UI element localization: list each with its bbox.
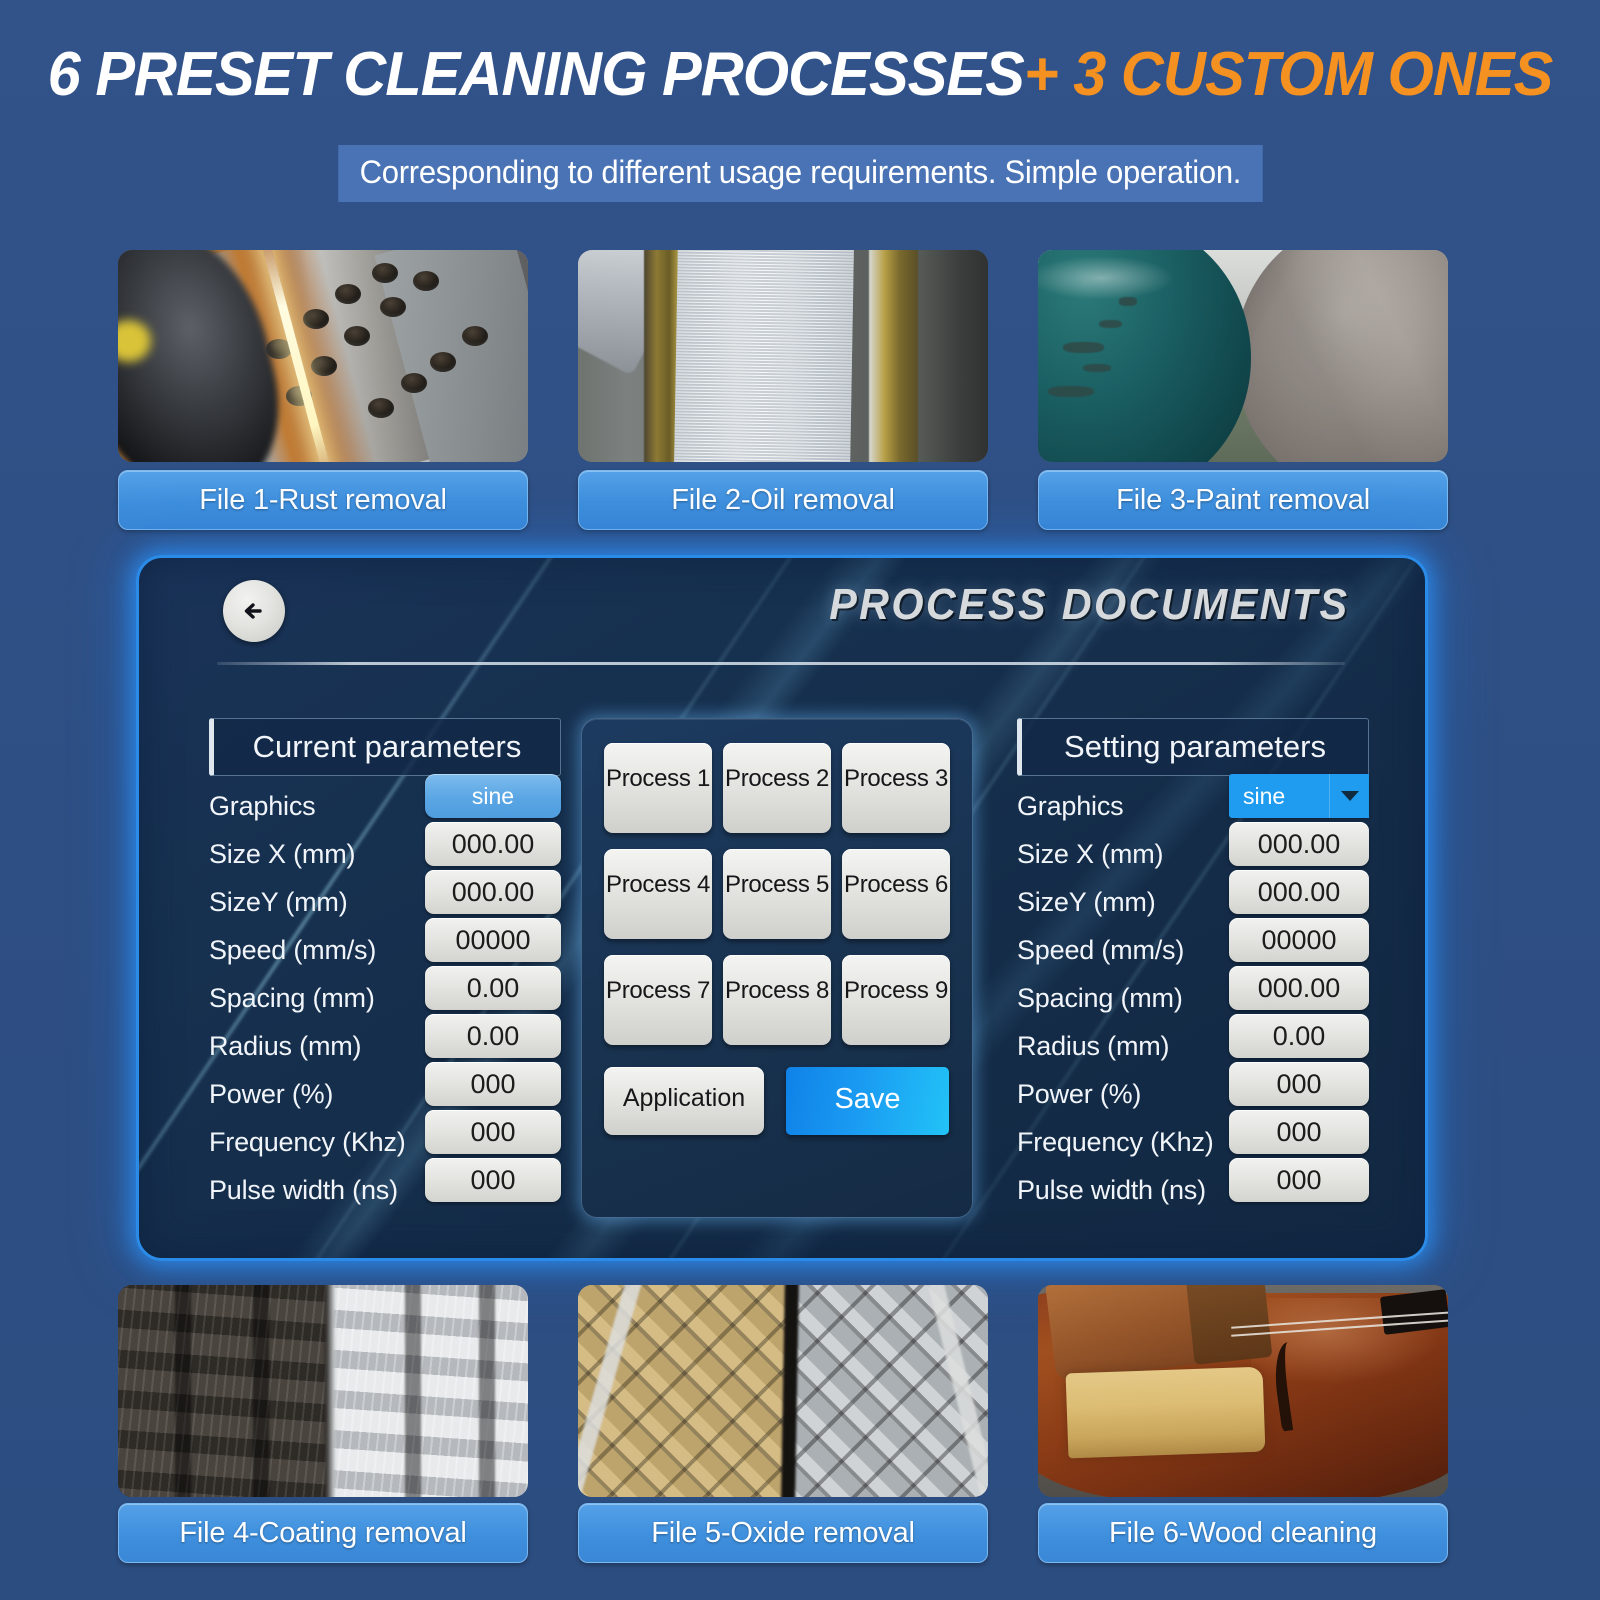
file-button-5[interactable]: File 5-Oxide removal [578, 1503, 988, 1563]
param-label: Graphics [209, 791, 315, 822]
gallery-card-paint[interactable]: File 3-Paint removal [1038, 250, 1448, 530]
process-documents-panel: PROCESS DOCUMENTS Current parameters Gra… [136, 555, 1428, 1261]
file-button-4[interactable]: File 4-Coating removal [118, 1503, 528, 1563]
thumbnail-oil-removal [578, 250, 988, 462]
file-button-6[interactable]: File 6-Wood cleaning [1038, 1503, 1448, 1563]
setting-frequency-input[interactable]: 000 [1229, 1110, 1369, 1154]
gallery-card-rust[interactable]: File 1-Rust removal [118, 250, 528, 530]
process-grid: Process 1 Process 2 Process 3 Process 4 … [604, 743, 950, 1045]
current-parameters-heading: Current parameters [209, 718, 561, 776]
gallery-card-coating[interactable]: File 4-Coating removal [118, 1285, 528, 1563]
process-actions: Application Save [604, 1067, 950, 1135]
process-button-8[interactable]: Process 8 [723, 955, 831, 1045]
process-selection-box: Process 1 Process 2 Process 3 Process 4 … [581, 718, 973, 1218]
back-arrow-icon [237, 594, 271, 628]
current-pulse-width-value: 000 [425, 1158, 561, 1202]
param-label: Graphics [1017, 791, 1123, 822]
current-graphics-value: sine [425, 774, 561, 818]
gallery-card-oil[interactable]: File 2-Oil removal [578, 250, 988, 530]
param-label: Power (%) [209, 1079, 333, 1110]
process-button-9[interactable]: Process 9 [842, 955, 950, 1045]
current-size-y-value: 000.00 [425, 870, 561, 914]
thumbnail-oxide-removal [578, 1285, 988, 1497]
thumbnail-wood-cleaning [1038, 1285, 1448, 1497]
param-label: Speed (mm/s) [209, 935, 376, 966]
application-button[interactable]: Application [604, 1067, 764, 1135]
process-button-5[interactable]: Process 5 [723, 849, 831, 939]
file-button-3[interactable]: File 3-Paint removal [1038, 470, 1448, 530]
setting-spacing-input[interactable]: 000.00 [1229, 966, 1369, 1010]
param-label: Frequency (Khz) [1017, 1127, 1214, 1158]
setting-parameters-heading: Setting parameters [1017, 718, 1369, 776]
panel-divider [217, 662, 1345, 665]
gallery-card-oxide[interactable]: File 5-Oxide removal [578, 1285, 988, 1563]
thumbnail-coating-removal [118, 1285, 528, 1497]
param-row-pulse-width: Pulse width (ns) 000 [209, 1166, 561, 1214]
setting-size-y-input[interactable]: 000.00 [1229, 870, 1369, 914]
save-button[interactable]: Save [786, 1067, 949, 1135]
setting-size-x-input[interactable]: 000.00 [1229, 822, 1369, 866]
process-button-4[interactable]: Process 4 [604, 849, 712, 939]
setting-radius-input[interactable]: 0.00 [1229, 1014, 1369, 1058]
setting-speed-input[interactable]: 00000 [1229, 918, 1369, 962]
param-label: Size X (mm) [209, 839, 355, 870]
param-label: Frequency (Khz) [209, 1127, 406, 1158]
param-label: Pulse width (ns) [209, 1175, 398, 1206]
param-label: Spacing (mm) [209, 983, 375, 1014]
current-spacing-value: 0.00 [425, 966, 561, 1010]
setting-parameters-rows: Graphics sine Size X (mm) 000.00 SizeY (… [1017, 782, 1369, 1214]
page-title: 6 PRESET CLEANING PROCESSES+ 3 CUSTOM ON… [32, 42, 1568, 107]
file-button-1[interactable]: File 1-Rust removal [118, 470, 528, 530]
headline-accent: + 3 CUSTOM ONES [1024, 40, 1553, 109]
file-button-2[interactable]: File 2-Oil removal [578, 470, 988, 530]
subtitle: Corresponding to different usage require… [338, 145, 1262, 202]
param-label: SizeY (mm) [1017, 887, 1156, 918]
thumbnail-rust-removal [118, 250, 528, 462]
page-root: 6 PRESET CLEANING PROCESSES+ 3 CUSTOM ON… [0, 0, 1600, 1600]
param-label: Size X (mm) [1017, 839, 1163, 870]
setting-parameters-column: Setting parameters Graphics sine Size X … [1017, 718, 1369, 1214]
subtitle-container: Corresponding to different usage require… [0, 145, 1600, 202]
back-button[interactable] [223, 580, 285, 642]
panel-title: PROCESS DOCUMENTS [829, 580, 1349, 630]
current-radius-value: 0.00 [425, 1014, 561, 1058]
param-row-pulse-width: Pulse width (ns) 000 [1017, 1166, 1369, 1214]
current-size-x-value: 000.00 [425, 822, 561, 866]
process-button-7[interactable]: Process 7 [604, 955, 712, 1045]
param-label: Radius (mm) [1017, 1031, 1169, 1062]
current-parameters-column: Current parameters Graphics sine Size X … [209, 718, 561, 1214]
setting-power-input[interactable]: 000 [1229, 1062, 1369, 1106]
thumbnail-paint-removal [1038, 250, 1448, 462]
current-speed-value: 00000 [425, 918, 561, 962]
process-button-3[interactable]: Process 3 [842, 743, 950, 833]
current-power-value: 000 [425, 1062, 561, 1106]
setting-pulse-width-input[interactable]: 000 [1229, 1158, 1369, 1202]
param-label: Speed (mm/s) [1017, 935, 1184, 966]
param-label: Power (%) [1017, 1079, 1141, 1110]
param-label: Radius (mm) [209, 1031, 361, 1062]
process-button-1[interactable]: Process 1 [604, 743, 712, 833]
setting-graphics-select[interactable]: sine [1229, 774, 1369, 818]
headline-primary: 6 PRESET CLEANING PROCESSES [48, 40, 1024, 109]
chevron-down-icon[interactable] [1329, 774, 1369, 818]
current-frequency-value: 000 [425, 1110, 561, 1154]
process-button-6[interactable]: Process 6 [842, 849, 950, 939]
gallery-card-wood[interactable]: File 6-Wood cleaning [1038, 1285, 1448, 1563]
process-button-2[interactable]: Process 2 [723, 743, 831, 833]
param-label: Spacing (mm) [1017, 983, 1183, 1014]
param-label: SizeY (mm) [209, 887, 348, 918]
param-label: Pulse width (ns) [1017, 1175, 1206, 1206]
current-parameters-rows: Graphics sine Size X (mm) 000.00 SizeY (… [209, 782, 561, 1214]
